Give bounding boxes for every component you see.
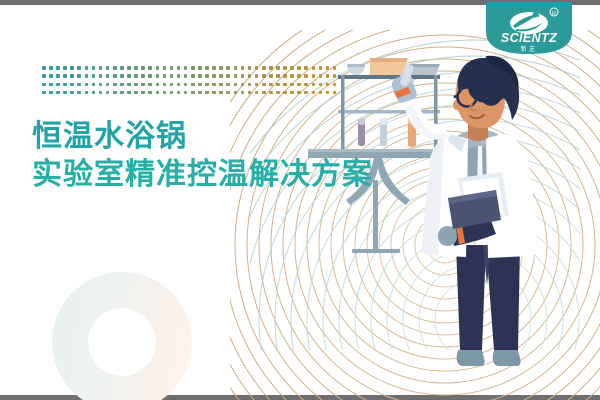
dot xyxy=(113,91,117,95)
dot xyxy=(127,83,131,87)
dot xyxy=(141,83,145,87)
dot-grid-gradient xyxy=(42,64,340,97)
dot xyxy=(255,91,259,95)
dot xyxy=(248,91,252,95)
poster-canvas: 恒温水浴锅 实验室精准控温解决方案 xyxy=(0,0,600,400)
dot xyxy=(191,91,195,95)
dot xyxy=(56,83,60,87)
dot xyxy=(70,66,74,70)
dot xyxy=(234,83,238,87)
dot xyxy=(212,91,216,95)
dot xyxy=(49,83,53,87)
dot xyxy=(77,66,81,70)
dot xyxy=(255,74,259,78)
dot xyxy=(134,91,138,95)
dot xyxy=(106,66,110,70)
dot xyxy=(276,83,280,87)
dot xyxy=(127,91,131,95)
dot xyxy=(184,83,188,87)
dot xyxy=(170,66,174,70)
dot xyxy=(255,83,259,87)
dot xyxy=(156,74,160,78)
dot xyxy=(269,66,273,70)
dot xyxy=(170,83,174,87)
dot xyxy=(191,74,195,78)
dot xyxy=(276,91,280,95)
dot xyxy=(241,83,245,87)
dot xyxy=(248,74,252,78)
dot xyxy=(198,74,202,78)
dot xyxy=(148,66,152,70)
dot xyxy=(219,83,223,87)
dot xyxy=(191,66,195,70)
dot xyxy=(113,66,117,70)
dot xyxy=(77,74,81,78)
dot xyxy=(77,91,81,95)
dot xyxy=(255,66,259,70)
dot xyxy=(177,66,181,70)
dot xyxy=(42,91,46,95)
dot xyxy=(92,66,96,70)
dot xyxy=(226,74,230,78)
dot xyxy=(241,74,245,78)
dot xyxy=(56,91,60,95)
dot xyxy=(163,66,167,70)
dot xyxy=(148,83,152,87)
headline-block: 恒温水浴锅 实验室精准控温解决方案 xyxy=(32,118,373,194)
dot xyxy=(85,66,89,70)
dot xyxy=(106,74,110,78)
dot xyxy=(92,74,96,78)
dot xyxy=(198,91,202,95)
dot xyxy=(283,83,287,87)
dot xyxy=(191,83,195,87)
dot xyxy=(85,91,89,95)
svg-text:SCIENTZ: SCIENTZ xyxy=(501,31,558,45)
dot xyxy=(134,74,138,78)
dot xyxy=(120,74,124,78)
dot xyxy=(219,91,223,95)
dot xyxy=(212,66,216,70)
dot xyxy=(276,74,280,78)
dot xyxy=(49,91,53,95)
dot xyxy=(156,91,160,95)
dot xyxy=(177,74,181,78)
dot xyxy=(49,66,53,70)
dot xyxy=(63,74,67,78)
dot xyxy=(283,74,287,78)
headline-line-2: 实验室精准控温解决方案 xyxy=(32,156,373,194)
dot xyxy=(85,83,89,87)
dot xyxy=(120,66,124,70)
svg-text:新芝: 新芝 xyxy=(520,45,537,53)
dot xyxy=(198,83,202,87)
dot xyxy=(262,91,266,95)
dot xyxy=(163,91,167,95)
dot xyxy=(99,66,103,70)
dot xyxy=(290,66,294,70)
dot xyxy=(262,66,266,70)
dot xyxy=(141,66,145,70)
scientist-figure xyxy=(392,56,538,366)
dot xyxy=(63,83,67,87)
dot xyxy=(248,83,252,87)
svg-text:R: R xyxy=(552,11,556,17)
dot xyxy=(99,74,103,78)
dot xyxy=(134,66,138,70)
donut-ring xyxy=(52,272,192,400)
dot xyxy=(290,83,294,87)
dot xyxy=(269,91,273,95)
scientz-shield-logo[interactable]: R SCIENTZ 新芝 xyxy=(486,2,572,54)
dot xyxy=(49,74,53,78)
dot xyxy=(99,91,103,95)
dot xyxy=(226,83,230,87)
dot xyxy=(63,91,67,95)
dot xyxy=(212,74,216,78)
dot xyxy=(163,74,167,78)
dot xyxy=(205,91,209,95)
dot xyxy=(106,91,110,95)
dot xyxy=(141,91,145,95)
dot xyxy=(148,74,152,78)
dot xyxy=(248,66,252,70)
dot xyxy=(234,66,238,70)
dot xyxy=(134,83,138,87)
dot xyxy=(77,83,81,87)
dot xyxy=(234,91,238,95)
dot xyxy=(283,66,287,70)
dot xyxy=(269,83,273,87)
dot xyxy=(290,91,294,95)
dot xyxy=(63,66,67,70)
dot xyxy=(127,66,131,70)
headline-line-1: 恒温水浴锅 xyxy=(32,118,373,156)
dot xyxy=(283,91,287,95)
dot xyxy=(70,91,74,95)
dot xyxy=(226,66,230,70)
dot xyxy=(177,83,181,87)
dot xyxy=(184,91,188,95)
dot xyxy=(163,83,167,87)
dot xyxy=(156,83,160,87)
dot xyxy=(120,83,124,87)
dot xyxy=(198,66,202,70)
dot xyxy=(290,74,294,78)
dot xyxy=(241,66,245,70)
dot xyxy=(148,91,152,95)
dot xyxy=(276,66,280,70)
dot xyxy=(141,74,145,78)
dot xyxy=(234,74,238,78)
dot xyxy=(205,66,209,70)
dot xyxy=(120,91,124,95)
dot xyxy=(92,83,96,87)
dot xyxy=(226,91,230,95)
dot xyxy=(113,74,117,78)
dot xyxy=(241,91,245,95)
dot xyxy=(156,66,160,70)
dot xyxy=(113,83,117,87)
dot xyxy=(42,83,46,87)
dot xyxy=(170,74,174,78)
dot xyxy=(127,74,131,78)
dot xyxy=(56,66,60,70)
dot xyxy=(85,74,89,78)
dot xyxy=(70,74,74,78)
dot xyxy=(269,74,273,78)
dot xyxy=(70,83,74,87)
dot xyxy=(262,83,266,87)
dot xyxy=(56,74,60,78)
dot xyxy=(184,74,188,78)
scientist-illustration xyxy=(300,30,600,395)
dot xyxy=(212,83,216,87)
dot xyxy=(219,66,223,70)
dot xyxy=(205,74,209,78)
dot xyxy=(177,91,181,95)
dot xyxy=(42,74,46,78)
dot xyxy=(106,83,110,87)
dot xyxy=(219,74,223,78)
dot xyxy=(205,83,209,87)
dot xyxy=(99,83,103,87)
dot xyxy=(170,91,174,95)
dot xyxy=(92,91,96,95)
dot xyxy=(262,74,266,78)
dot xyxy=(42,66,46,70)
dot xyxy=(184,66,188,70)
